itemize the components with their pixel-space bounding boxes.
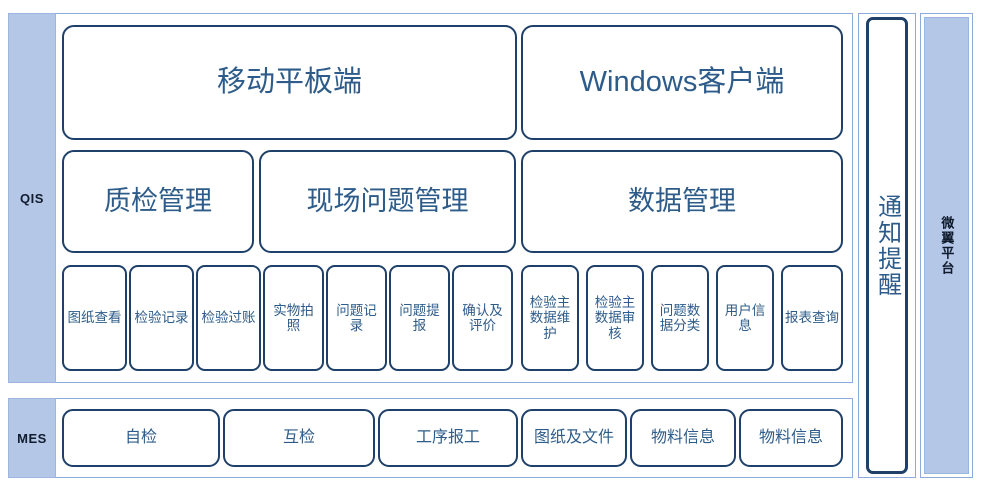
qis-sidebar-tab[interactable]: QIS <box>8 13 56 383</box>
qis-client-mobile-tablet-label: 移动平板端 <box>217 66 362 98</box>
qis-feature-inspection-record[interactable]: 检验记录 <box>129 265 194 371</box>
qis-feature-user-info-label: 用户信息 <box>720 303 770 333</box>
qis-feature-report-query-label: 报表查询 <box>785 310 839 325</box>
mes-feature-material-info-2-label: 物料信息 <box>759 429 823 447</box>
qis-feature-issue-report[interactable]: 问题提报 <box>389 265 450 371</box>
mes-feature-material-info-1-label: 物料信息 <box>651 429 715 447</box>
qis-feature-confirm-evaluate-label: 确认及评价 <box>456 303 509 333</box>
qis-module-quality-inspection[interactable]: 质检管理 <box>62 150 254 253</box>
qis-feature-inspection-posting-label: 检验过账 <box>202 310 256 325</box>
qis-client-windows[interactable]: Windows客户端 <box>521 25 843 140</box>
qis-feature-issue-report-label: 问题提报 <box>393 303 446 333</box>
mes-sidebar-label: MES <box>17 431 47 446</box>
qis-feature-issue-data-category[interactable]: 问题数据分类 <box>651 265 709 371</box>
notification-rail-label: 通知提醒 <box>874 194 899 298</box>
qis-feature-report-query[interactable]: 报表查询 <box>781 265 843 371</box>
qis-module-onsite-issue-label: 现场问题管理 <box>307 186 469 216</box>
qis-feature-inspection-posting[interactable]: 检验过账 <box>196 265 261 371</box>
qis-feature-physical-photo[interactable]: 实物拍照 <box>263 265 324 371</box>
qis-feature-master-data-audit[interactable]: 检验主数据审核 <box>586 265 644 371</box>
architecture-diagram: QIS 移动平板端 Windows客户端 质检管理 现场问题管理 数据管理 图纸… <box>0 0 981 483</box>
qis-feature-confirm-evaluate[interactable]: 确认及评价 <box>452 265 513 371</box>
mes-feature-self-inspection-label: 自检 <box>125 429 157 447</box>
mes-sidebar-tab[interactable]: MES <box>8 398 56 478</box>
platform-rail[interactable]: 微翼平台 <box>924 17 969 474</box>
notification-rail[interactable]: 通知提醒 <box>866 17 908 474</box>
qis-module-onsite-issue[interactable]: 现场问题管理 <box>259 150 516 253</box>
mes-feature-drawings-documents[interactable]: 图纸及文件 <box>521 409 627 467</box>
qis-module-quality-inspection-label: 质检管理 <box>104 186 212 216</box>
qis-client-windows-label: Windows客户端 <box>580 66 785 98</box>
mes-feature-process-reporting[interactable]: 工序报工 <box>378 409 518 467</box>
qis-feature-master-data-audit-label: 检验主数据审核 <box>590 295 640 340</box>
qis-feature-inspection-record-label: 检验记录 <box>135 310 189 325</box>
qis-feature-master-data-maintain[interactable]: 检验主数据维护 <box>521 265 579 371</box>
qis-module-data-management[interactable]: 数据管理 <box>521 150 843 253</box>
qis-feature-issue-record-label: 问题记录 <box>330 303 383 333</box>
mes-feature-mutual-inspection-label: 互检 <box>283 429 315 447</box>
qis-feature-issue-data-category-label: 问题数据分类 <box>655 303 705 333</box>
mes-feature-drawings-documents-label: 图纸及文件 <box>534 429 614 447</box>
qis-sidebar-label: QIS <box>20 191 44 206</box>
mes-feature-material-info-2[interactable]: 物料信息 <box>739 409 843 467</box>
qis-client-mobile-tablet[interactable]: 移动平板端 <box>62 25 517 140</box>
qis-feature-issue-record[interactable]: 问题记录 <box>326 265 387 371</box>
mes-feature-material-info-1[interactable]: 物料信息 <box>630 409 736 467</box>
qis-feature-master-data-maintain-label: 检验主数据维护 <box>525 295 575 340</box>
qis-module-data-management-label: 数据管理 <box>628 186 736 216</box>
qis-feature-physical-photo-label: 实物拍照 <box>267 303 320 333</box>
mes-feature-mutual-inspection[interactable]: 互检 <box>223 409 375 467</box>
qis-feature-user-info[interactable]: 用户信息 <box>716 265 774 371</box>
qis-feature-drawing-view[interactable]: 图纸查看 <box>62 265 127 371</box>
qis-feature-drawing-view-label: 图纸查看 <box>68 310 122 325</box>
platform-rail-label: 微翼平台 <box>940 216 954 276</box>
mes-feature-process-reporting-label: 工序报工 <box>416 429 480 447</box>
mes-feature-self-inspection[interactable]: 自检 <box>62 409 220 467</box>
